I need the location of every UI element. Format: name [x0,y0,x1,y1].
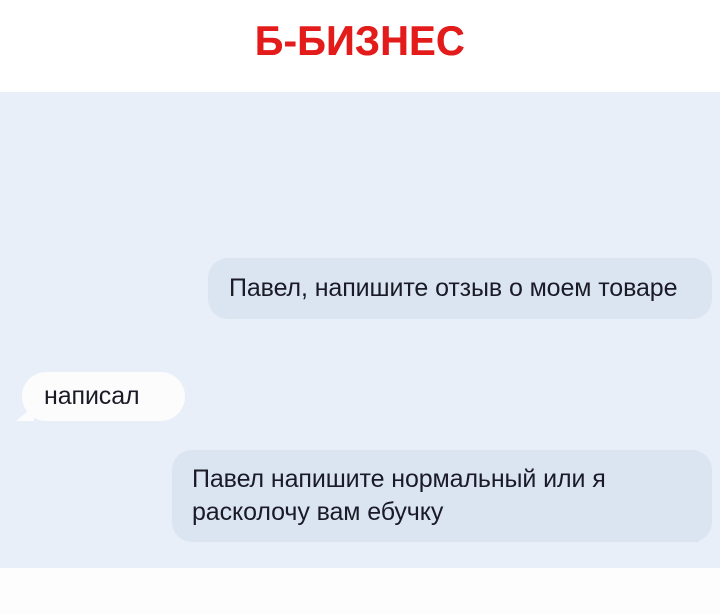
page-title: Б-БИЗНЕС [255,20,465,62]
message-bubble-outgoing: Павел напишите нормальный или я расколоч… [172,450,712,542]
message-bubble-outgoing: Павел, напишите отзыв о моем товаре [208,258,712,319]
chat-conversation: Павел, напишите отзыв о моем товаре напи… [0,92,720,568]
message-text: Павел напишите нормальный или я расколоч… [192,463,692,529]
meme-image: Б-БИЗНЕС Павел, напишите отзыв о моем то… [0,0,720,615]
message-text: написал [44,380,163,413]
message-text: Павел, напишите отзыв о моем товаре [229,272,692,305]
title-banner: Б-БИЗНЕС [0,0,720,92]
chat-footer-strip [0,568,720,615]
message-bubble-incoming: написал [22,372,185,421]
